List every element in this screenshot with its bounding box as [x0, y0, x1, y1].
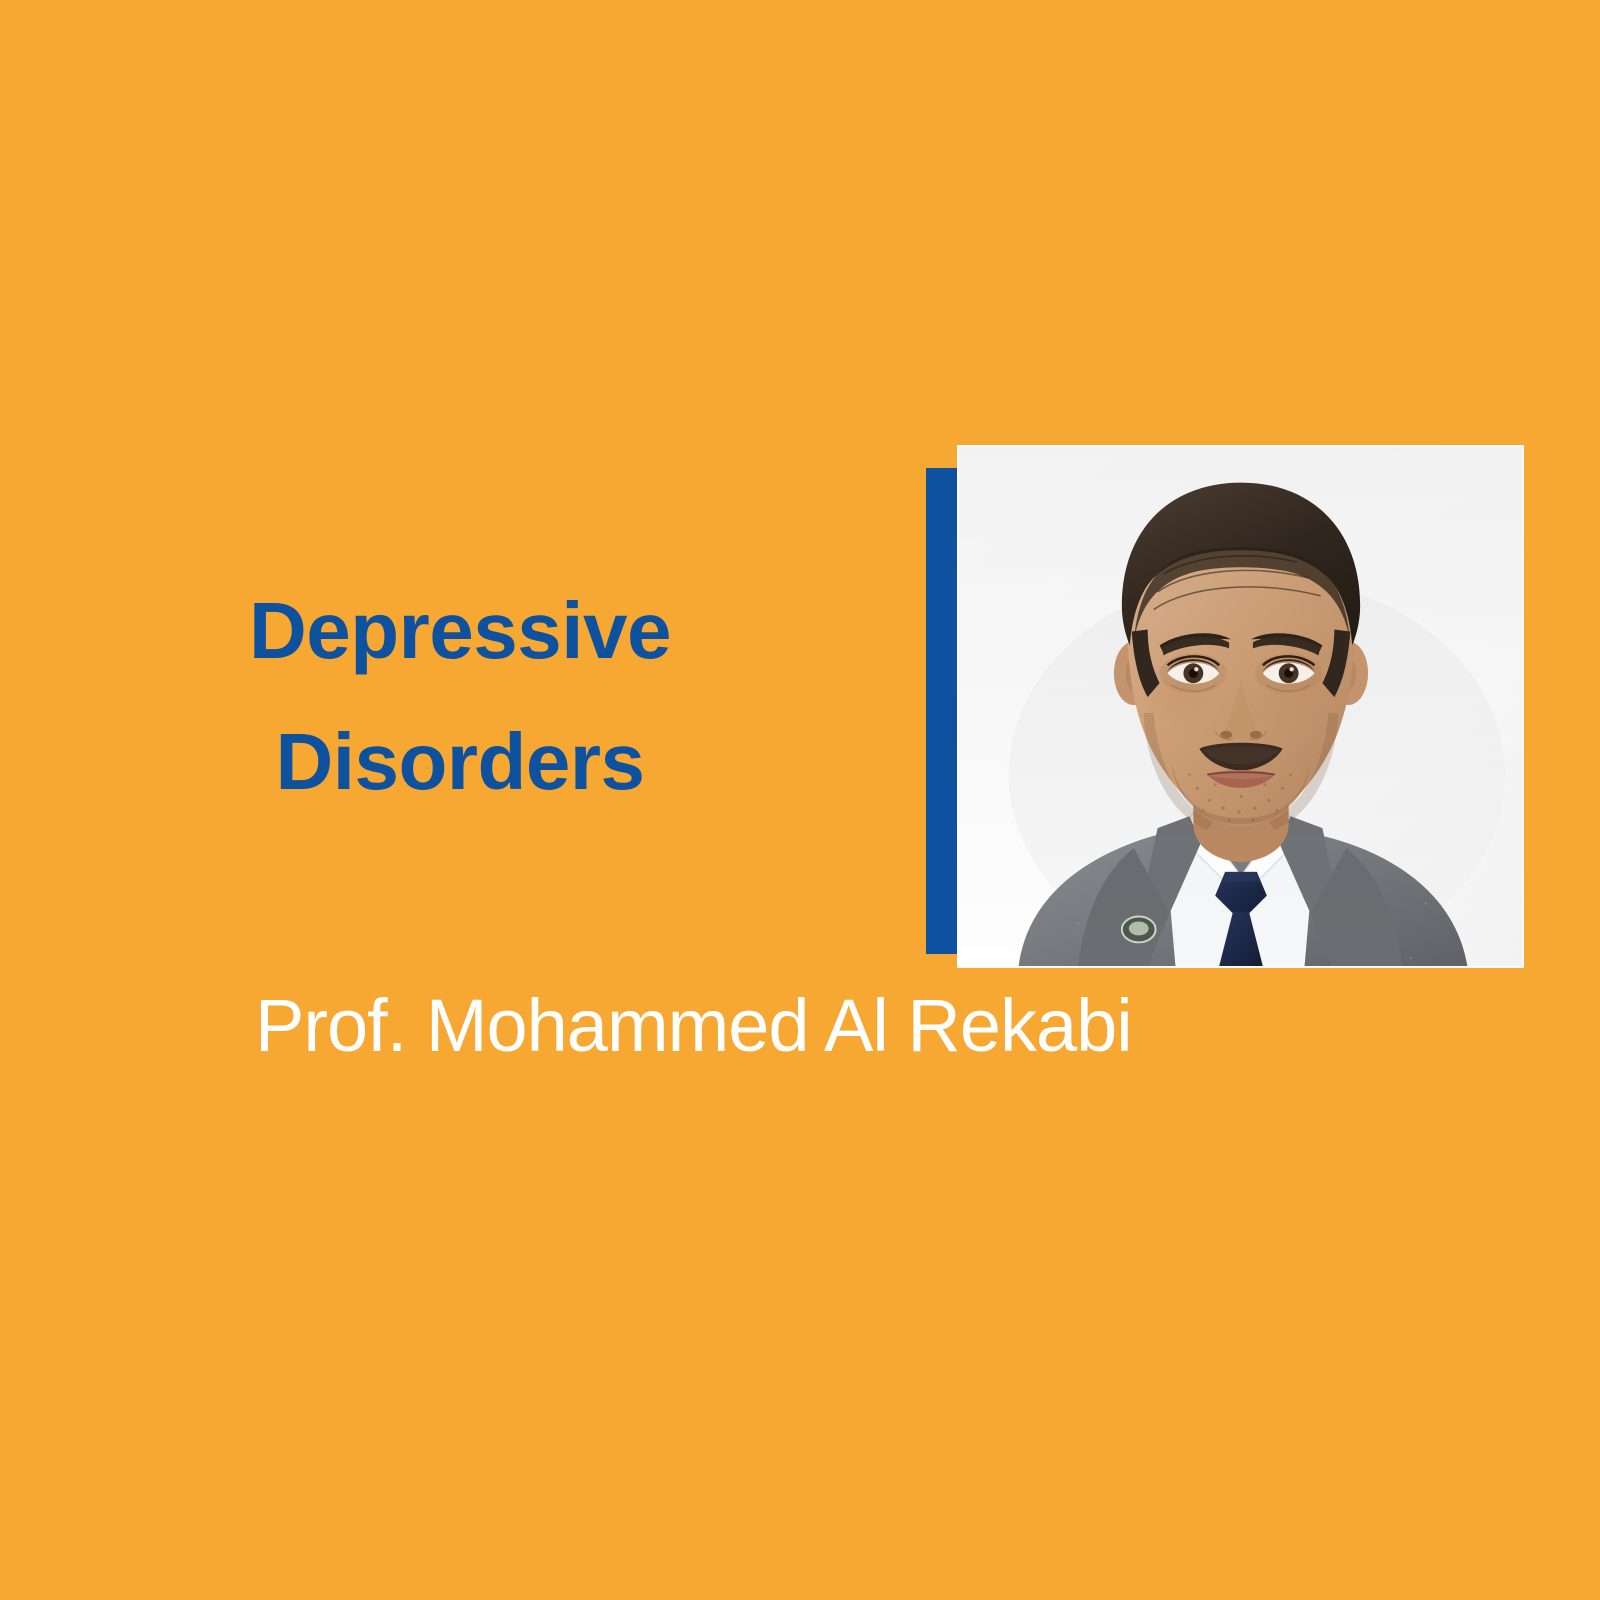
slide-canvas: Depressive Disorders Prof. Mohammed Al R… [0, 0, 1600, 1600]
title-line-1: Depressive [150, 565, 770, 696]
accent-bar [926, 468, 959, 954]
portrait-photo-frame [957, 445, 1524, 968]
presenter-name: Prof. Mohammed Al Rekabi [255, 985, 1132, 1067]
portrait-photo [959, 447, 1522, 966]
page-title: Depressive Disorders [150, 565, 770, 827]
title-line-2: Disorders [150, 696, 770, 827]
